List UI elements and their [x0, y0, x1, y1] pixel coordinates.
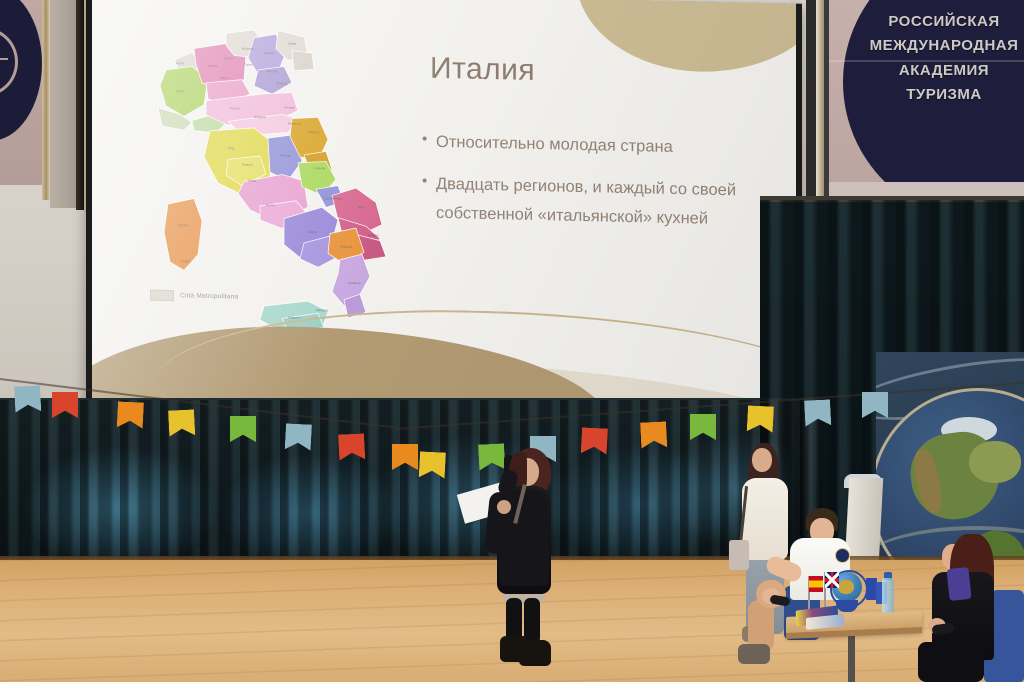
left-banner-spoke-shape — [0, 58, 8, 60]
svg-text:Cosenza: Cosenza — [348, 281, 361, 285]
uk-flag — [825, 572, 839, 588]
svg-text:Cagliari: Cagliari — [180, 259, 191, 263]
screenshot-root: Aosta Torino Varese Como Milano Bolzano … — [0, 0, 1024, 682]
bunting-flag — [581, 427, 608, 454]
svg-text:Roma: Roma — [266, 203, 275, 207]
svg-text:Bari: Bari — [358, 205, 364, 209]
svg-text:Potenza: Potenza — [340, 245, 352, 249]
attendee-face — [752, 448, 772, 472]
academy-banner-seam — [829, 60, 1024, 62]
svg-text:Firenze: Firenze — [242, 163, 253, 167]
svg-text:Siena: Siena — [248, 179, 256, 183]
bunting-flag — [640, 421, 667, 448]
svg-text:Belluno: Belluno — [264, 51, 275, 55]
svg-text:Trento: Trento — [244, 63, 253, 67]
wall-pillar — [50, 0, 76, 208]
svg-text:Messina: Messina — [316, 308, 328, 312]
svg-text:Aosta: Aosta — [176, 61, 184, 65]
svg-text:Torino: Torino — [176, 89, 185, 93]
svg-text:Ferrara: Ferrara — [284, 106, 295, 110]
svg-text:Brindisi: Brindisi — [368, 233, 379, 237]
academy-banner-line-3: АКАДЕМИЯ — [849, 59, 1024, 83]
bunting-flag — [168, 409, 195, 436]
svg-text:L'Aquila: L'Aquila — [314, 166, 325, 170]
svg-text:Varese: Varese — [208, 64, 218, 68]
svg-text:Pisa: Pisa — [228, 146, 234, 150]
svg-text:Ancona: Ancona — [308, 130, 319, 134]
presenter-boot-right — [519, 640, 551, 666]
left-wall-banner — [0, 0, 44, 185]
academy-banner-line-2: МЕЖДУНАРОДНАЯ — [849, 34, 1024, 58]
map-legend: Città Metropolitana — [150, 290, 238, 303]
svg-text:Udine: Udine — [288, 42, 297, 46]
spain-flag — [809, 576, 823, 592]
table-leg — [848, 634, 855, 682]
svg-text:Bologna: Bologna — [254, 115, 266, 119]
academy-banner: РОССИЙСКАЯ МЕЖДУНАРОДНАЯ АКАДЕМИЯ ТУРИЗМ… — [824, 0, 1024, 200]
academy-banner-line-4: ТУРИЗМА — [849, 83, 1024, 107]
projection-screen: Aosta Torino Varese Como Milano Bolzano … — [92, 0, 796, 418]
bunting-flag — [862, 392, 888, 418]
svg-text:Perugia: Perugia — [280, 153, 291, 157]
svg-text:Sassari: Sassari — [178, 223, 189, 227]
slide-title: Италия — [430, 52, 535, 88]
attendee-handbag — [729, 540, 749, 570]
svg-text:Ravenna: Ravenna — [288, 122, 301, 126]
svg-text:Vicenza: Vicenza — [266, 69, 278, 73]
academy-banner-line-1: РОССИЙСКАЯ — [849, 10, 1024, 34]
svg-text:Parma: Parma — [230, 106, 240, 110]
svg-text:Napoli: Napoli — [308, 230, 317, 234]
slide-bullet-2: Двадцать регионов, и каждый со своей соб… — [422, 170, 752, 234]
bunting-flag — [285, 423, 312, 450]
seated-man-badge-icon — [835, 548, 850, 563]
slide-bullet-1: Относительно молодая страна — [422, 128, 752, 164]
svg-text:Bolzano: Bolzano — [242, 47, 254, 51]
legend-swatch — [150, 290, 174, 302]
wall-trim-dark — [76, 0, 84, 210]
bunting-flag — [690, 414, 716, 440]
svg-text:Milano: Milano — [220, 76, 230, 80]
bunting-flag — [478, 443, 505, 470]
bunting-flag — [392, 444, 418, 470]
svg-text:Venezia: Venezia — [276, 81, 288, 85]
svg-text:Campobasso: Campobasso — [324, 196, 343, 200]
seated-woman-legs — [918, 642, 984, 682]
desk-globe-landmass — [838, 580, 854, 594]
bunting-flag — [338, 433, 365, 460]
bunting-flag — [14, 385, 41, 412]
slide-bullet-list: Относительно молодая страна Двадцать рег… — [422, 128, 752, 248]
bunting-flag — [804, 399, 831, 426]
seated-man-shoe — [738, 644, 770, 664]
bunting-flag — [117, 401, 144, 428]
academy-banner-text: РОССИЙСКАЯ МЕЖДУНАРОДНАЯ АКАДЕМИЯ ТУРИЗМ… — [849, 10, 1024, 107]
presenter-hand — [497, 500, 511, 514]
bunting-flag — [747, 405, 774, 432]
seated-woman-scarf — [946, 567, 971, 601]
bunting-flag — [52, 392, 78, 418]
wall-trim-a — [42, 0, 50, 200]
legend-label: Città Metropolitana — [180, 292, 238, 300]
slide-decor-arc-top — [576, 0, 796, 75]
svg-text:Como: Como — [224, 56, 233, 60]
bunting-flag — [230, 416, 256, 442]
bunting-flag — [419, 451, 446, 478]
